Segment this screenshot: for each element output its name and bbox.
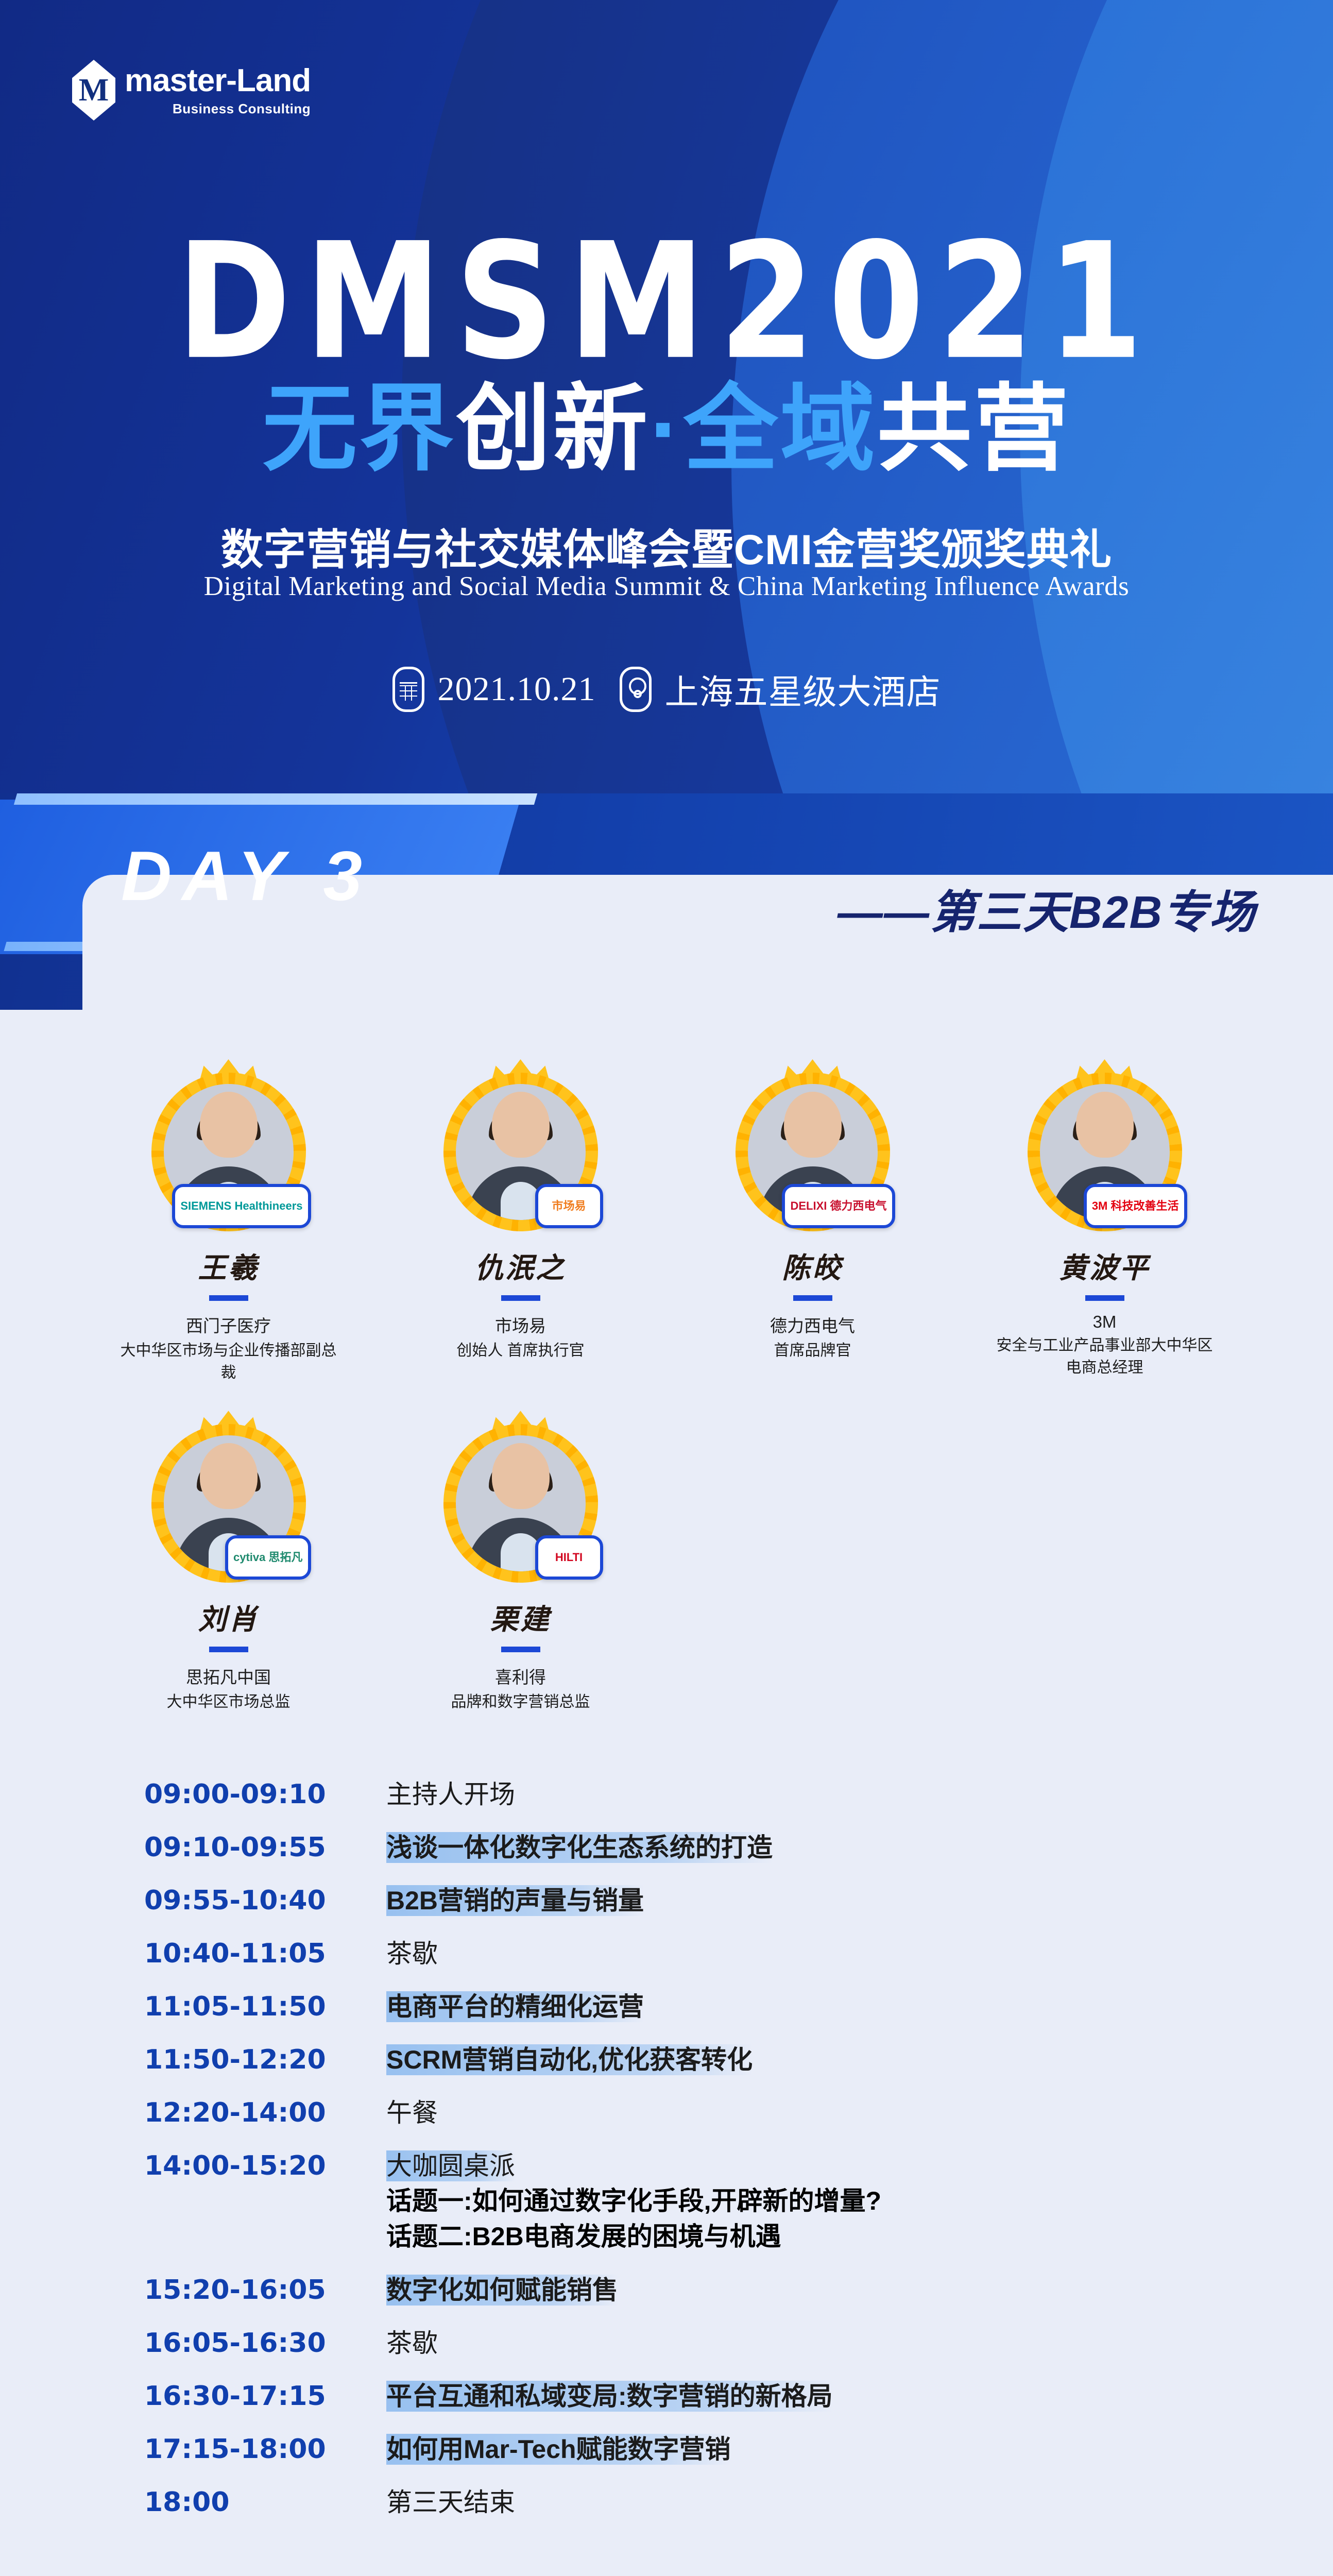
agenda-row: 11:05-11:50电商平台的精细化运营 [144,1991,1251,2023]
agenda-description-text: 浅谈一体化数字化生态系统的打造 [386,1832,773,1863]
speaker-title: 创始人 首席执行官 [456,1340,584,1362]
speakers-grid: SIEMENS Healthineers王羲西门子医疗大中华区市场与企业传播部副… [82,1010,1251,1742]
agenda-row: 11:50-12:20SCRM营销自动化,优化获客转化 [144,2044,1251,2076]
speaker-company: 3M [1093,1312,1117,1332]
agenda-list: 09:00-09:10主持人开场09:10-09:55浅谈一体化数字化生态系统的… [82,1778,1251,2519]
day-tab-accent-top [14,793,537,805]
brand-text: master-Land Business Consulting [125,65,311,115]
agenda-description: 数字化如何赋能销售 [386,2274,618,2307]
speaker-company: 市场易 [495,1312,546,1337]
agenda-description-text: B2B营销的声量与销量 [386,1885,644,1916]
speaker-company-logo: 市场易 [535,1184,603,1228]
speaker-company: 思拓凡中国 [186,1664,271,1688]
agenda-description: 茶歇 [386,2327,438,2360]
speaker-title: 首席品牌官 [774,1340,851,1362]
agenda-description-text: 午餐 [386,2098,438,2127]
location-pin-icon [620,667,652,712]
agenda-content: 午餐 [386,2097,438,2129]
agenda-content: 茶歇 [386,2327,438,2360]
agenda-time: 09:00-09:10 [144,1778,386,1810]
speaker-name: 栗建 [490,1596,551,1637]
agenda-description-text: 平台互通和私域变局:数字营销的新格局 [386,2381,833,2412]
agenda-section: 09:00-09:10主持人开场09:10-09:55浅谈一体化数字化生态系统的… [82,1778,1251,2519]
event-subtitle-cn: 数字营销与社交媒体峰会暨CMI金营奖颁奖典礼 [0,515,1333,577]
agenda-description: 如何用Mar-Tech赋能数字营销 [386,2433,731,2466]
agenda-subtopic-text: 话题二:B2B电商发展的困境与机遇 [386,2222,781,2251]
agenda-description: 浅谈一体化数字化生态系统的打造 [386,1832,773,1864]
agenda-description-text: 数字化如何赋能销售 [386,2275,618,2306]
speaker-name: 陈皎 [782,1245,843,1286]
agenda-row: 09:55-10:40B2B营销的声量与销量 [144,1885,1251,1917]
agenda-description: 茶歇 [386,1938,438,1970]
agenda-description: 电商平台的精细化运营 [386,1991,644,2023]
speaker-card: SIEMENS Healthineers王羲西门子医疗大中华区市场与企业传播部副… [82,1061,374,1384]
agenda-row: 09:00-09:10主持人开场 [144,1778,1251,1811]
speaker-company-logo-text: DELIXI 德力西电气 [790,1200,886,1213]
event-slogan: 无界创新·全域共营 [0,381,1333,476]
agenda-time: 09:10-09:55 [144,1832,386,1863]
event-date-item: 2021.10.21 [392,667,596,712]
speaker-divider [793,1295,832,1301]
speaker-title: 安全与工业产品事业部大中华区电商总经理 [997,1335,1213,1379]
agenda-description-text: 主持人开场 [386,1780,515,1809]
agenda-content: 平台互通和私域变局:数字营销的新格局 [386,2380,833,2413]
event-title: DMSM2021 [0,209,1333,395]
agenda-time: 16:05-16:30 [144,2327,386,2359]
speaker-company-logo-text: SIEMENS Healthineers [180,1200,302,1213]
slogan-part-4: 共营 [877,376,1071,482]
speaker-portrait-wrap: DELIXI 德力西电气 [736,1061,890,1231]
day-label: DAY 3 [121,836,372,916]
agenda-subtopic: 话题一:如何通过数字化手段,开辟新的增量? [386,2184,881,2218]
slogan-part-2: 创新 [456,376,650,482]
agenda-subtopic: 话题二:B2B电商发展的困境与机遇 [386,2220,881,2253]
agenda-description: SCRM营销自动化,优化获客转化 [386,2044,753,2076]
agenda-time: 11:50-12:20 [144,2044,386,2076]
agenda-content: 主持人开场 [386,1778,515,1811]
agenda-description: 午餐 [386,2097,438,2129]
poster-body: SIEMENS Healthineers王羲西门子医疗大中华区市场与企业传播部副… [0,1010,1333,2576]
agenda-description-text: 大咖圆桌派 [386,2150,515,2181]
agenda-content: SCRM营销自动化,优化获客转化 [386,2044,753,2076]
agenda-description: 平台互通和私域变局:数字营销的新格局 [386,2380,833,2413]
agenda-time: 10:40-11:05 [144,1938,386,1970]
speaker-name: 王羲 [198,1245,259,1286]
agenda-description-text: 如何用Mar-Tech赋能数字营销 [386,2434,731,2465]
agenda-row: 15:20-16:05数字化如何赋能销售 [144,2274,1251,2307]
agenda-time: 17:15-18:00 [144,2433,386,2465]
brand-tagline: Business Consulting [125,102,311,115]
day-theme: ——第三天B2B专场 [838,876,1256,941]
agenda-time: 12:20-14:00 [144,2097,386,2129]
agenda-row: 17:15-18:00如何用Mar-Tech赋能数字营销 [144,2433,1251,2466]
speaker-company-logo-text: cytiva 思拓凡 [233,1551,303,1564]
agenda-subtopic-text: 话题一:如何通过数字化手段,开辟新的增量? [386,2187,881,2215]
speaker-divider [501,1647,540,1652]
speaker-name: 仇泯之 [475,1245,566,1286]
brand-diamond-icon: M [72,60,115,121]
agenda-description: 主持人开场 [386,1778,515,1811]
speaker-company-logo: DELIXI 德力西电气 [782,1184,895,1228]
slogan-separator: · [650,376,683,482]
agenda-description-text: SCRM营销自动化,优化获客转化 [386,2044,753,2075]
speaker-company: 喜利得 [495,1664,546,1688]
speaker-company: 德力西电气 [770,1312,855,1337]
brand-mark-letter: M [79,74,109,106]
agenda-content: 电商平台的精细化运营 [386,1991,644,2023]
calendar-icon [392,667,424,712]
speaker-title: 大中华区市场总监 [167,1691,290,1714]
agenda-content: 如何用Mar-Tech赋能数字营销 [386,2433,731,2466]
speaker-portrait-wrap: 3M 科技改善生活 [1028,1061,1182,1231]
agenda-row: 10:40-11:05茶歇 [144,1938,1251,1970]
agenda-time: 14:00-15:20 [144,2150,386,2182]
speaker-card: 市场易仇泯之市场易创始人 首席执行官 [374,1061,666,1384]
agenda-description-text: 第三天结束 [386,2488,515,2517]
event-subtitle-en: Digital Marketing and Social Media Summi… [0,571,1333,602]
speaker-company-logo: 3M 科技改善生活 [1084,1184,1187,1228]
speaker-portrait-wrap: cytiva 思拓凡 [151,1413,306,1583]
speaker-card: cytiva 思拓凡刘肖思拓凡中国大中华区市场总监 [82,1413,374,1714]
agenda-content: 茶歇 [386,1938,438,1970]
agenda-description-text: 茶歇 [386,1939,438,1968]
speaker-portrait-wrap: HILTI [443,1413,598,1583]
agenda-time: 15:20-16:05 [144,2274,386,2306]
speaker-company-logo: SIEMENS Healthineers [172,1184,311,1228]
speaker-company-logo: cytiva 思拓凡 [225,1535,311,1580]
agenda-content: B2B营销的声量与销量 [386,1885,644,1917]
speaker-card: HILTI栗建喜利得品牌和数字营销总监 [374,1413,666,1714]
speaker-divider [501,1295,540,1301]
speaker-card: 3M 科技改善生活黄波平3M安全与工业产品事业部大中华区电商总经理 [959,1061,1251,1384]
speaker-portrait-wrap: 市场易 [443,1061,598,1231]
slogan-part-3: 全域 [683,376,877,482]
conference-poster: M master-Land Business Consulting DMSM20… [0,0,1333,2576]
hero-section: M master-Land Business Consulting DMSM20… [0,0,1333,793]
speaker-company: 西门子医疗 [186,1312,271,1337]
speaker-divider [209,1295,248,1301]
agenda-description: B2B营销的声量与销量 [386,1885,644,1917]
agenda-row: 12:20-14:00午餐 [144,2097,1251,2129]
event-venue: 上海五星级大酒店 [665,665,941,714]
agenda-row: 14:00-15:20大咖圆桌派话题一:如何通过数字化手段,开辟新的增量?话题二… [144,2150,1251,2253]
brand-name: master-Land [125,65,311,97]
speaker-card: DELIXI 德力西电气陈皎德力西电气首席品牌官 [666,1061,959,1384]
speakers-section: SIEMENS Healthineers王羲西门子医疗大中华区市场与企业传播部副… [82,1010,1251,1742]
agenda-content: 大咖圆桌派话题一:如何通过数字化手段,开辟新的增量?话题二:B2B电商发展的困境… [386,2150,881,2253]
event-venue-item: 上海五星级大酒店 [620,665,941,714]
speaker-company-logo-text: 3M 科技改善生活 [1092,1200,1179,1213]
agenda-content: 浅谈一体化数字化生态系统的打造 [386,1832,773,1864]
speaker-divider [209,1647,248,1652]
speaker-title: 品牌和数字营销总监 [451,1691,590,1714]
agenda-description: 大咖圆桌派 [386,2150,881,2182]
speaker-company-logo: HILTI [535,1535,603,1580]
agenda-row: 16:05-16:30茶歇 [144,2327,1251,2360]
agenda-description-text: 茶歇 [386,2329,438,2358]
agenda-description-text: 电商平台的精细化运营 [386,1991,644,2022]
agenda-row: 18:00第三天结束 [144,2486,1251,2519]
speaker-title: 大中华区市场与企业传播部副总裁 [121,1340,337,1384]
speaker-company-logo-text: HILTI [555,1551,583,1564]
agenda-time: 09:55-10:40 [144,1885,386,1917]
speaker-portrait-wrap: SIEMENS Healthineers [151,1061,306,1231]
speaker-name: 黄波平 [1059,1245,1150,1286]
event-date: 2021.10.21 [438,670,596,709]
speaker-name: 刘肖 [198,1596,259,1637]
speaker-company-logo-text: 市场易 [552,1200,586,1213]
event-meta-row: 2021.10.21 上海五星级大酒店 [0,665,1333,714]
agenda-row: 09:10-09:55浅谈一体化数字化生态系统的打造 [144,1832,1251,1864]
brand-logo: M master-Land Business Consulting [72,60,311,121]
agenda-description: 第三天结束 [386,2486,515,2519]
agenda-time: 16:30-17:15 [144,2380,386,2412]
agenda-time: 11:05-11:50 [144,1991,386,2023]
agenda-row: 16:30-17:15平台互通和私域变局:数字营销的新格局 [144,2380,1251,2413]
slogan-part-1: 无界 [262,376,456,482]
agenda-content: 数字化如何赋能销售 [386,2274,618,2307]
agenda-content: 第三天结束 [386,2486,515,2519]
agenda-time: 18:00 [144,2486,386,2518]
speaker-divider [1085,1295,1124,1301]
day-banner: DAY 3 ——第三天B2B专场 [0,793,1333,1010]
